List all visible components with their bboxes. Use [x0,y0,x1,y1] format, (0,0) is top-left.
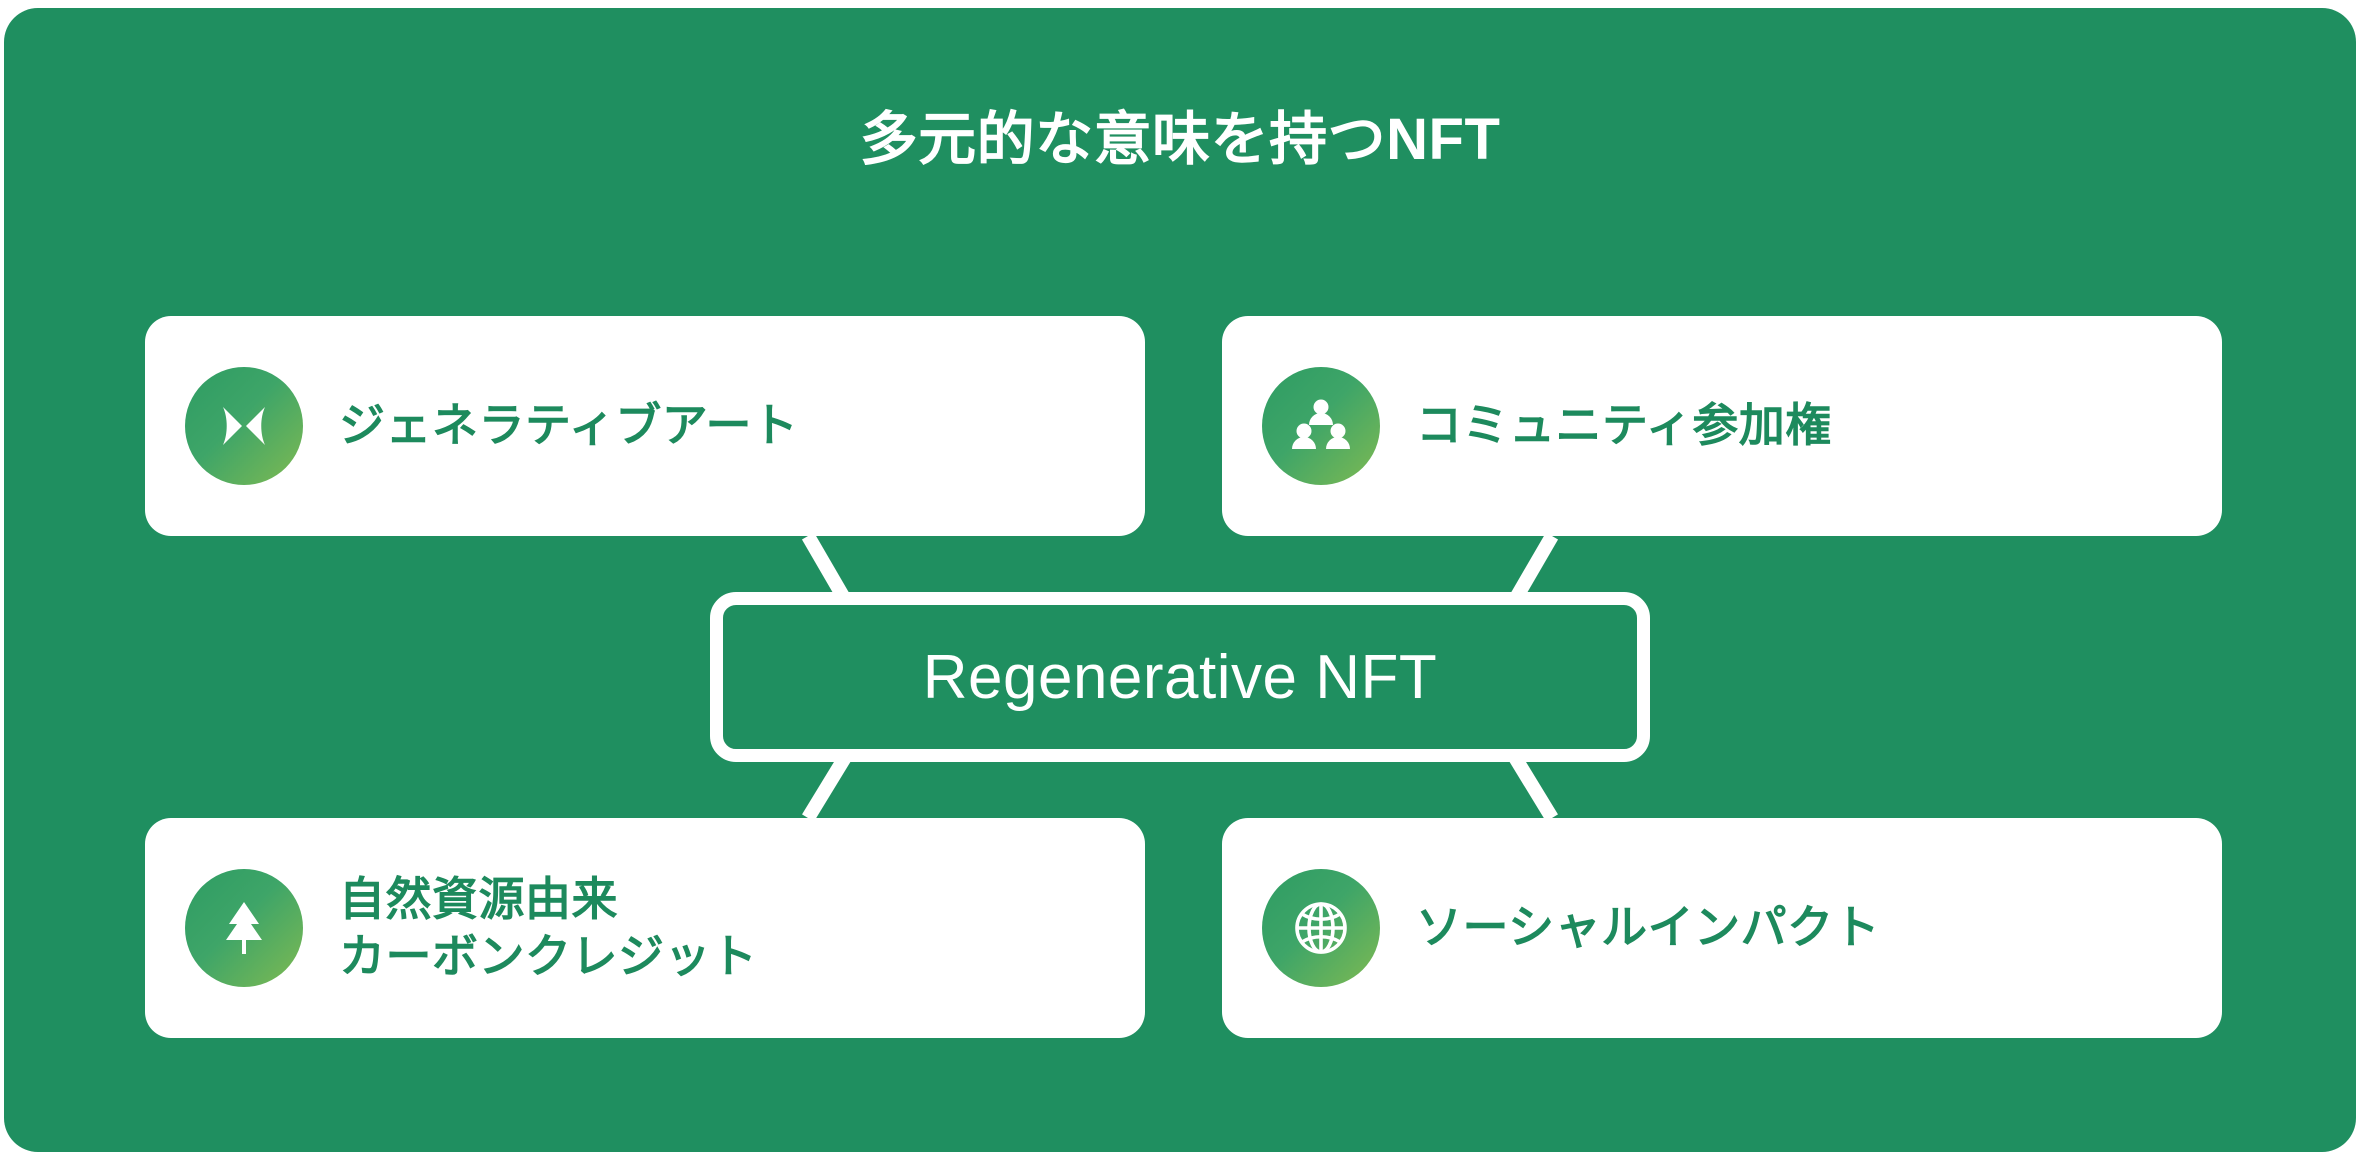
diagram-canvas: 多元的な意味を持つNFT ジェネラティブアート [0,0,2360,1160]
node-card-generative-art[interactable]: ジェネラティブアート [145,316,1145,536]
globe-icon [1262,869,1380,987]
people-group-icon [1262,367,1380,485]
node-label: 自然資源由来 カーボンクレジット [339,871,758,985]
node-card-community-membership[interactable]: コミュニティ参加権 [1222,316,2222,536]
node-card-carbon-credit[interactable]: 自然資源由来 カーボンクレジット [145,818,1145,1038]
evergreen-tree-icon [185,869,303,987]
node-card-social-impact[interactable]: ソーシャルインパクト [1222,818,2222,1038]
center-node-regenerative-nft[interactable]: Regenerative NFT [710,592,1650,762]
node-label: コミュニティ参加権 [1416,397,1832,454]
center-node-label: Regenerative NFT [923,642,1438,713]
bowtie-icon [185,367,303,485]
node-label: ジェネラティブアート [339,397,798,454]
node-label: ソーシャルインパクト [1416,899,1880,956]
